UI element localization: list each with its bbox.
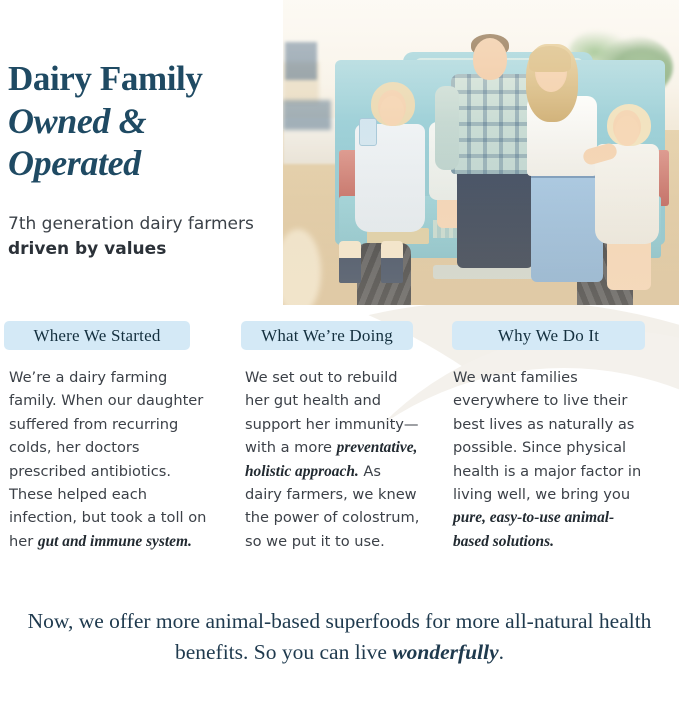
body-text-pre: We want families everywhere to live thei…	[453, 369, 641, 503]
photo-father-arm	[435, 86, 459, 170]
photo-girl-left-boot-1	[339, 241, 361, 283]
footer-tagline: Now, we offer more animal-based superfoo…	[0, 606, 679, 668]
footer-text-pre: Now, we offer more animal-based superfoo…	[28, 609, 652, 664]
page-title-line-1: Dairy Family	[8, 58, 278, 100]
section-heading-label: Why We Do It	[498, 326, 599, 346]
section-body-where-we-started: We’re a dairy farming family. When our d…	[9, 366, 214, 553]
photo-father-plaid-shirt	[451, 74, 533, 174]
section-heading-what-were-doing: What We’re Doing	[241, 321, 413, 350]
body-text-pre: We’re a dairy farming family. When our d…	[9, 369, 206, 550]
section-heading-label: Where We Started	[33, 326, 160, 346]
photo-background-object	[283, 100, 331, 130]
section-body-what-were-doing: We set out to rebuild her gut health and…	[245, 366, 420, 553]
section-heading-why-we-do-it: Why We Do It	[452, 321, 645, 350]
page-subtitle-normal: 7th generation dairy farmers	[8, 214, 254, 234]
photo-girl-left-boot-2	[381, 241, 403, 283]
page-subtitle: 7th generation dairy farmers driven by v…	[8, 212, 270, 262]
page-title: Dairy Family Owned & Operated	[8, 58, 278, 184]
body-text-emphasis: gut and immune system.	[38, 533, 192, 550]
photo-father-legs	[457, 168, 533, 268]
page-title-line-2: Owned &	[8, 100, 278, 142]
marketing-infographic: Dairy Family Owned & Operated 7th genera…	[0, 0, 679, 711]
photo-foreground-blur-dark	[285, 42, 317, 80]
body-text-emphasis: pure, easy-to-use animal-based solutions…	[453, 509, 614, 549]
footer-text-emphasis: wonderfully	[392, 640, 498, 664]
photo-girl-left-face	[380, 96, 404, 126]
page-subtitle-bold: driven by values	[8, 239, 166, 259]
family-photo	[283, 0, 679, 305]
section-body-why-we-do-it: We want families everywhere to live thei…	[453, 366, 648, 553]
photo-girl-left-phone	[359, 118, 377, 146]
photo-girl-right-face	[615, 116, 639, 146]
page-title-line-3: Operated	[8, 142, 278, 184]
photo-mother-jeans	[531, 170, 603, 282]
footer-text-post: .	[499, 640, 504, 664]
photo-mother-hair-top	[529, 46, 571, 72]
photo-father-head	[473, 38, 507, 80]
section-heading-label: What We’re Doing	[261, 326, 393, 346]
section-heading-where-we-started: Where We Started	[4, 321, 190, 350]
